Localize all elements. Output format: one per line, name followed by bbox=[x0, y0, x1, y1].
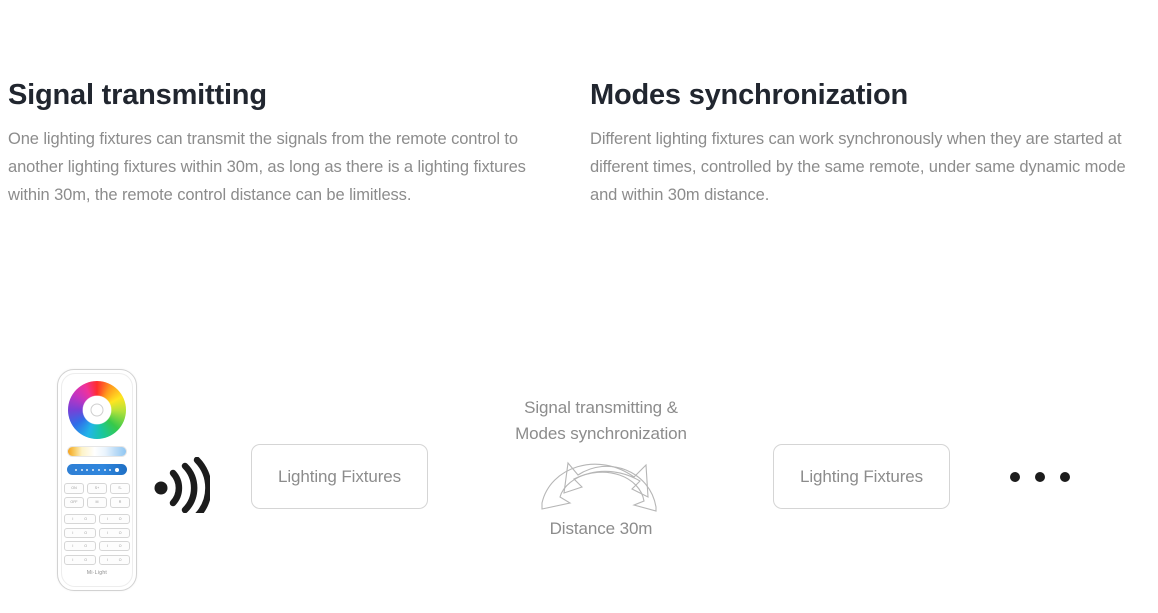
zone-on-glyph: I bbox=[72, 517, 73, 521]
lighting-fixture-box-1: Lighting Fixtures bbox=[251, 444, 428, 509]
zone-on-glyph: I bbox=[107, 531, 108, 535]
remote-key-speed-up: S+ bbox=[87, 483, 107, 494]
brightness-slider bbox=[67, 464, 127, 475]
remote-zone-key: IO bbox=[99, 541, 131, 551]
slider-dot bbox=[86, 469, 88, 471]
remote-brand-logo: Mi·Light bbox=[58, 570, 136, 576]
section-body-signal-transmitting: One lighting fixtures can transmit the s… bbox=[8, 125, 540, 209]
zone-on-glyph: I bbox=[107, 544, 108, 548]
center-label-line-1: Signal transmitting & bbox=[460, 395, 742, 421]
slider-handle bbox=[115, 468, 119, 472]
section-body-modes-synchronization: Different lighting fixtures can work syn… bbox=[590, 125, 1146, 209]
slider-dot bbox=[109, 469, 111, 471]
remote-zone-key: IO bbox=[99, 555, 131, 565]
section-heading-signal-transmitting: Signal transmitting bbox=[8, 78, 540, 112]
remote-control-device: ON S+ S- OFF M R IO IO IO IO IO IO IO IO… bbox=[57, 369, 137, 591]
feature-columns: Signal transmitting One lighting fixture… bbox=[0, 78, 1158, 209]
color-wheel-icon bbox=[68, 381, 126, 439]
center-label-line-2: Modes synchronization bbox=[460, 421, 742, 447]
ellipsis-dot bbox=[1060, 472, 1070, 482]
remote-zone-key: IO bbox=[99, 528, 131, 538]
zone-on-glyph: I bbox=[107, 558, 108, 562]
color-wheel-hub bbox=[91, 404, 104, 417]
zone-off-glyph: O bbox=[119, 558, 122, 562]
remote-zone-key: IO bbox=[64, 555, 96, 565]
remote-top-keypad: ON S+ S- OFF M R bbox=[64, 483, 130, 508]
lighting-fixture-box-2: Lighting Fixtures bbox=[773, 444, 950, 509]
slider-dot bbox=[92, 469, 94, 471]
double-curved-arrow-icon bbox=[460, 451, 742, 515]
zone-off-glyph: O bbox=[119, 544, 122, 548]
ellipsis-dot bbox=[1035, 472, 1045, 482]
center-annotation-group: Signal transmitting & Modes synchronizat… bbox=[460, 395, 742, 539]
zone-on-glyph: I bbox=[72, 544, 73, 548]
zone-off-glyph: O bbox=[119, 531, 122, 535]
zone-off-glyph: O bbox=[84, 558, 87, 562]
zone-off-glyph: O bbox=[84, 517, 87, 521]
remote-key-mode: M bbox=[87, 497, 107, 508]
zone-on-glyph: I bbox=[107, 517, 108, 521]
section-heading-modes-synchronization: Modes synchronization bbox=[590, 78, 1146, 112]
remote-key-on: ON bbox=[64, 483, 84, 494]
zone-on-glyph: I bbox=[72, 531, 73, 535]
feature-column-signal-transmitting: Signal transmitting One lighting fixture… bbox=[0, 78, 580, 209]
zone-on-glyph: I bbox=[72, 558, 73, 562]
signal-waves-icon bbox=[152, 457, 210, 513]
remote-key-off: OFF bbox=[64, 497, 84, 508]
continuation-ellipsis bbox=[1010, 472, 1070, 482]
remote-zone-key: IO bbox=[64, 514, 96, 524]
distance-label: Distance 30m bbox=[460, 519, 742, 539]
slider-dot bbox=[98, 469, 100, 471]
zone-off-glyph: O bbox=[84, 531, 87, 535]
ellipsis-dot bbox=[1010, 472, 1020, 482]
remote-zone-key: IO bbox=[64, 541, 96, 551]
zone-off-glyph: O bbox=[84, 544, 87, 548]
remote-zone-key: IO bbox=[99, 514, 131, 524]
slider-dot bbox=[81, 469, 83, 471]
color-temperature-slider bbox=[67, 446, 127, 457]
slider-dot bbox=[75, 469, 77, 471]
zone-off-glyph: O bbox=[119, 517, 122, 521]
remote-zone-key: IO bbox=[64, 528, 96, 538]
remote-zone-keypad: IO IO IO IO IO IO IO IO bbox=[64, 514, 130, 565]
remote-key-reset: R bbox=[110, 497, 130, 508]
system-diagram: ON S+ S- OFF M R IO IO IO IO IO IO IO IO… bbox=[0, 360, 1158, 613]
slider-dot bbox=[104, 469, 106, 471]
feature-column-modes-synchronization: Modes synchronization Different lighting… bbox=[580, 78, 1158, 209]
remote-key-speed-down: S- bbox=[110, 483, 130, 494]
